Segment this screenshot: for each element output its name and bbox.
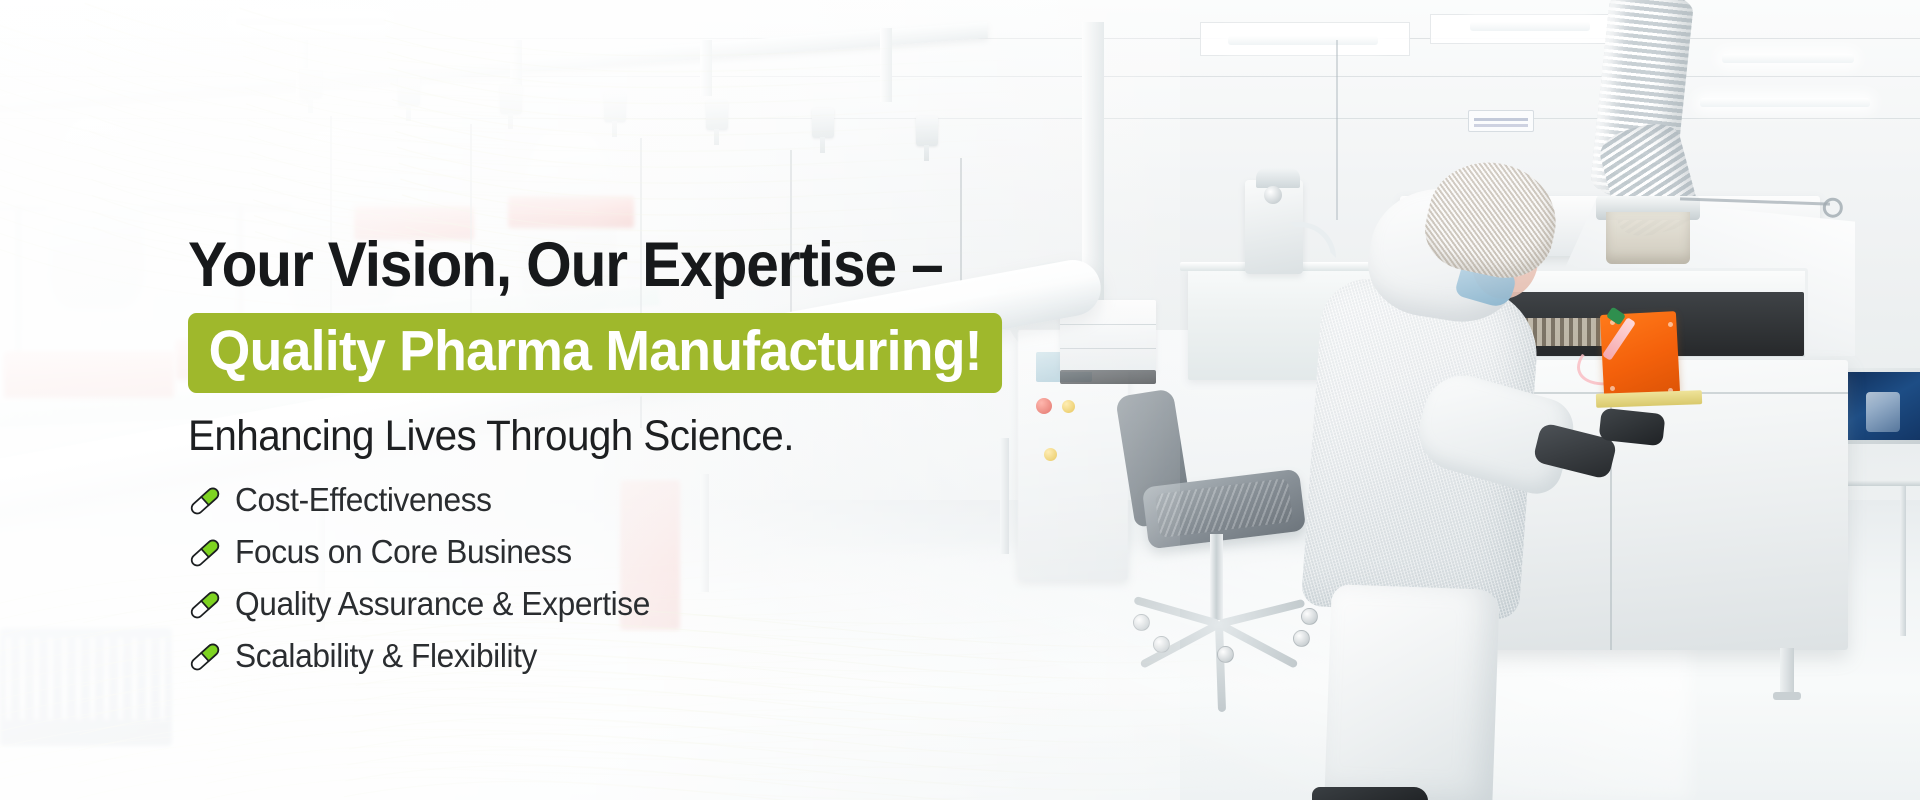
wall-sign <box>1468 110 1534 132</box>
list-item-label: Quality Assurance & Expertise <box>235 586 650 623</box>
microscope-dial <box>1264 186 1282 204</box>
duct-filter-cup <box>1606 212 1690 264</box>
pill-capsule-icon <box>188 588 222 622</box>
screen-content <box>1866 392 1900 432</box>
list-item-label: Cost-Effectiveness <box>235 482 492 519</box>
cleanroom-operator <box>1300 135 1560 745</box>
hero-headline: Your Vision, Our Expertise – <box>188 232 1137 299</box>
hero-subheadline: Enhancing Lives Through Science. <box>188 413 1147 460</box>
hero-banner: Your Vision, Our Expertise – Quality Pha… <box>0 0 1920 800</box>
stool-leg <box>1215 624 1226 712</box>
list-item: Quality Assurance & Expertise <box>188 586 1208 623</box>
panel-screw <box>1668 322 1673 327</box>
list-item-label: Focus on Core Business <box>235 534 572 571</box>
operator-glove <box>1599 408 1666 447</box>
ceiling-light <box>1470 22 1590 31</box>
ceiling-light <box>1228 36 1378 45</box>
hero-benefit-list: Cost-Effectiveness Focus on Core Busines… <box>188 482 1208 675</box>
ceiling-light <box>1700 98 1870 107</box>
hero-highlight-wrapper: Quality Pharma Manufacturing! <box>188 313 1208 393</box>
operator-legs <box>1324 584 1500 800</box>
microscope-head <box>1256 168 1300 188</box>
table-leg <box>1900 486 1906 636</box>
ceiling-light <box>1722 54 1854 63</box>
hero-content: Your Vision, Our Expertise – Quality Pha… <box>188 232 1208 690</box>
list-item: Scalability & Flexibility <box>188 638 1208 675</box>
panel-screw <box>1610 386 1615 391</box>
list-item-label: Scalability & Flexibility <box>235 638 537 675</box>
pill-capsule-icon <box>188 640 222 674</box>
list-item: Focus on Core Business <box>188 534 1208 571</box>
pill-capsule-icon <box>188 484 222 518</box>
operator-shoe-cover <box>1312 787 1428 800</box>
stool-column <box>1210 534 1223 620</box>
machine-foot <box>1780 648 1794 696</box>
pill-capsule-icon <box>188 536 222 570</box>
list-item: Cost-Effectiveness <box>188 482 1208 519</box>
stool-caster <box>1217 646 1234 663</box>
hero-highlight-badge: Quality Pharma Manufacturing! <box>188 313 1002 393</box>
